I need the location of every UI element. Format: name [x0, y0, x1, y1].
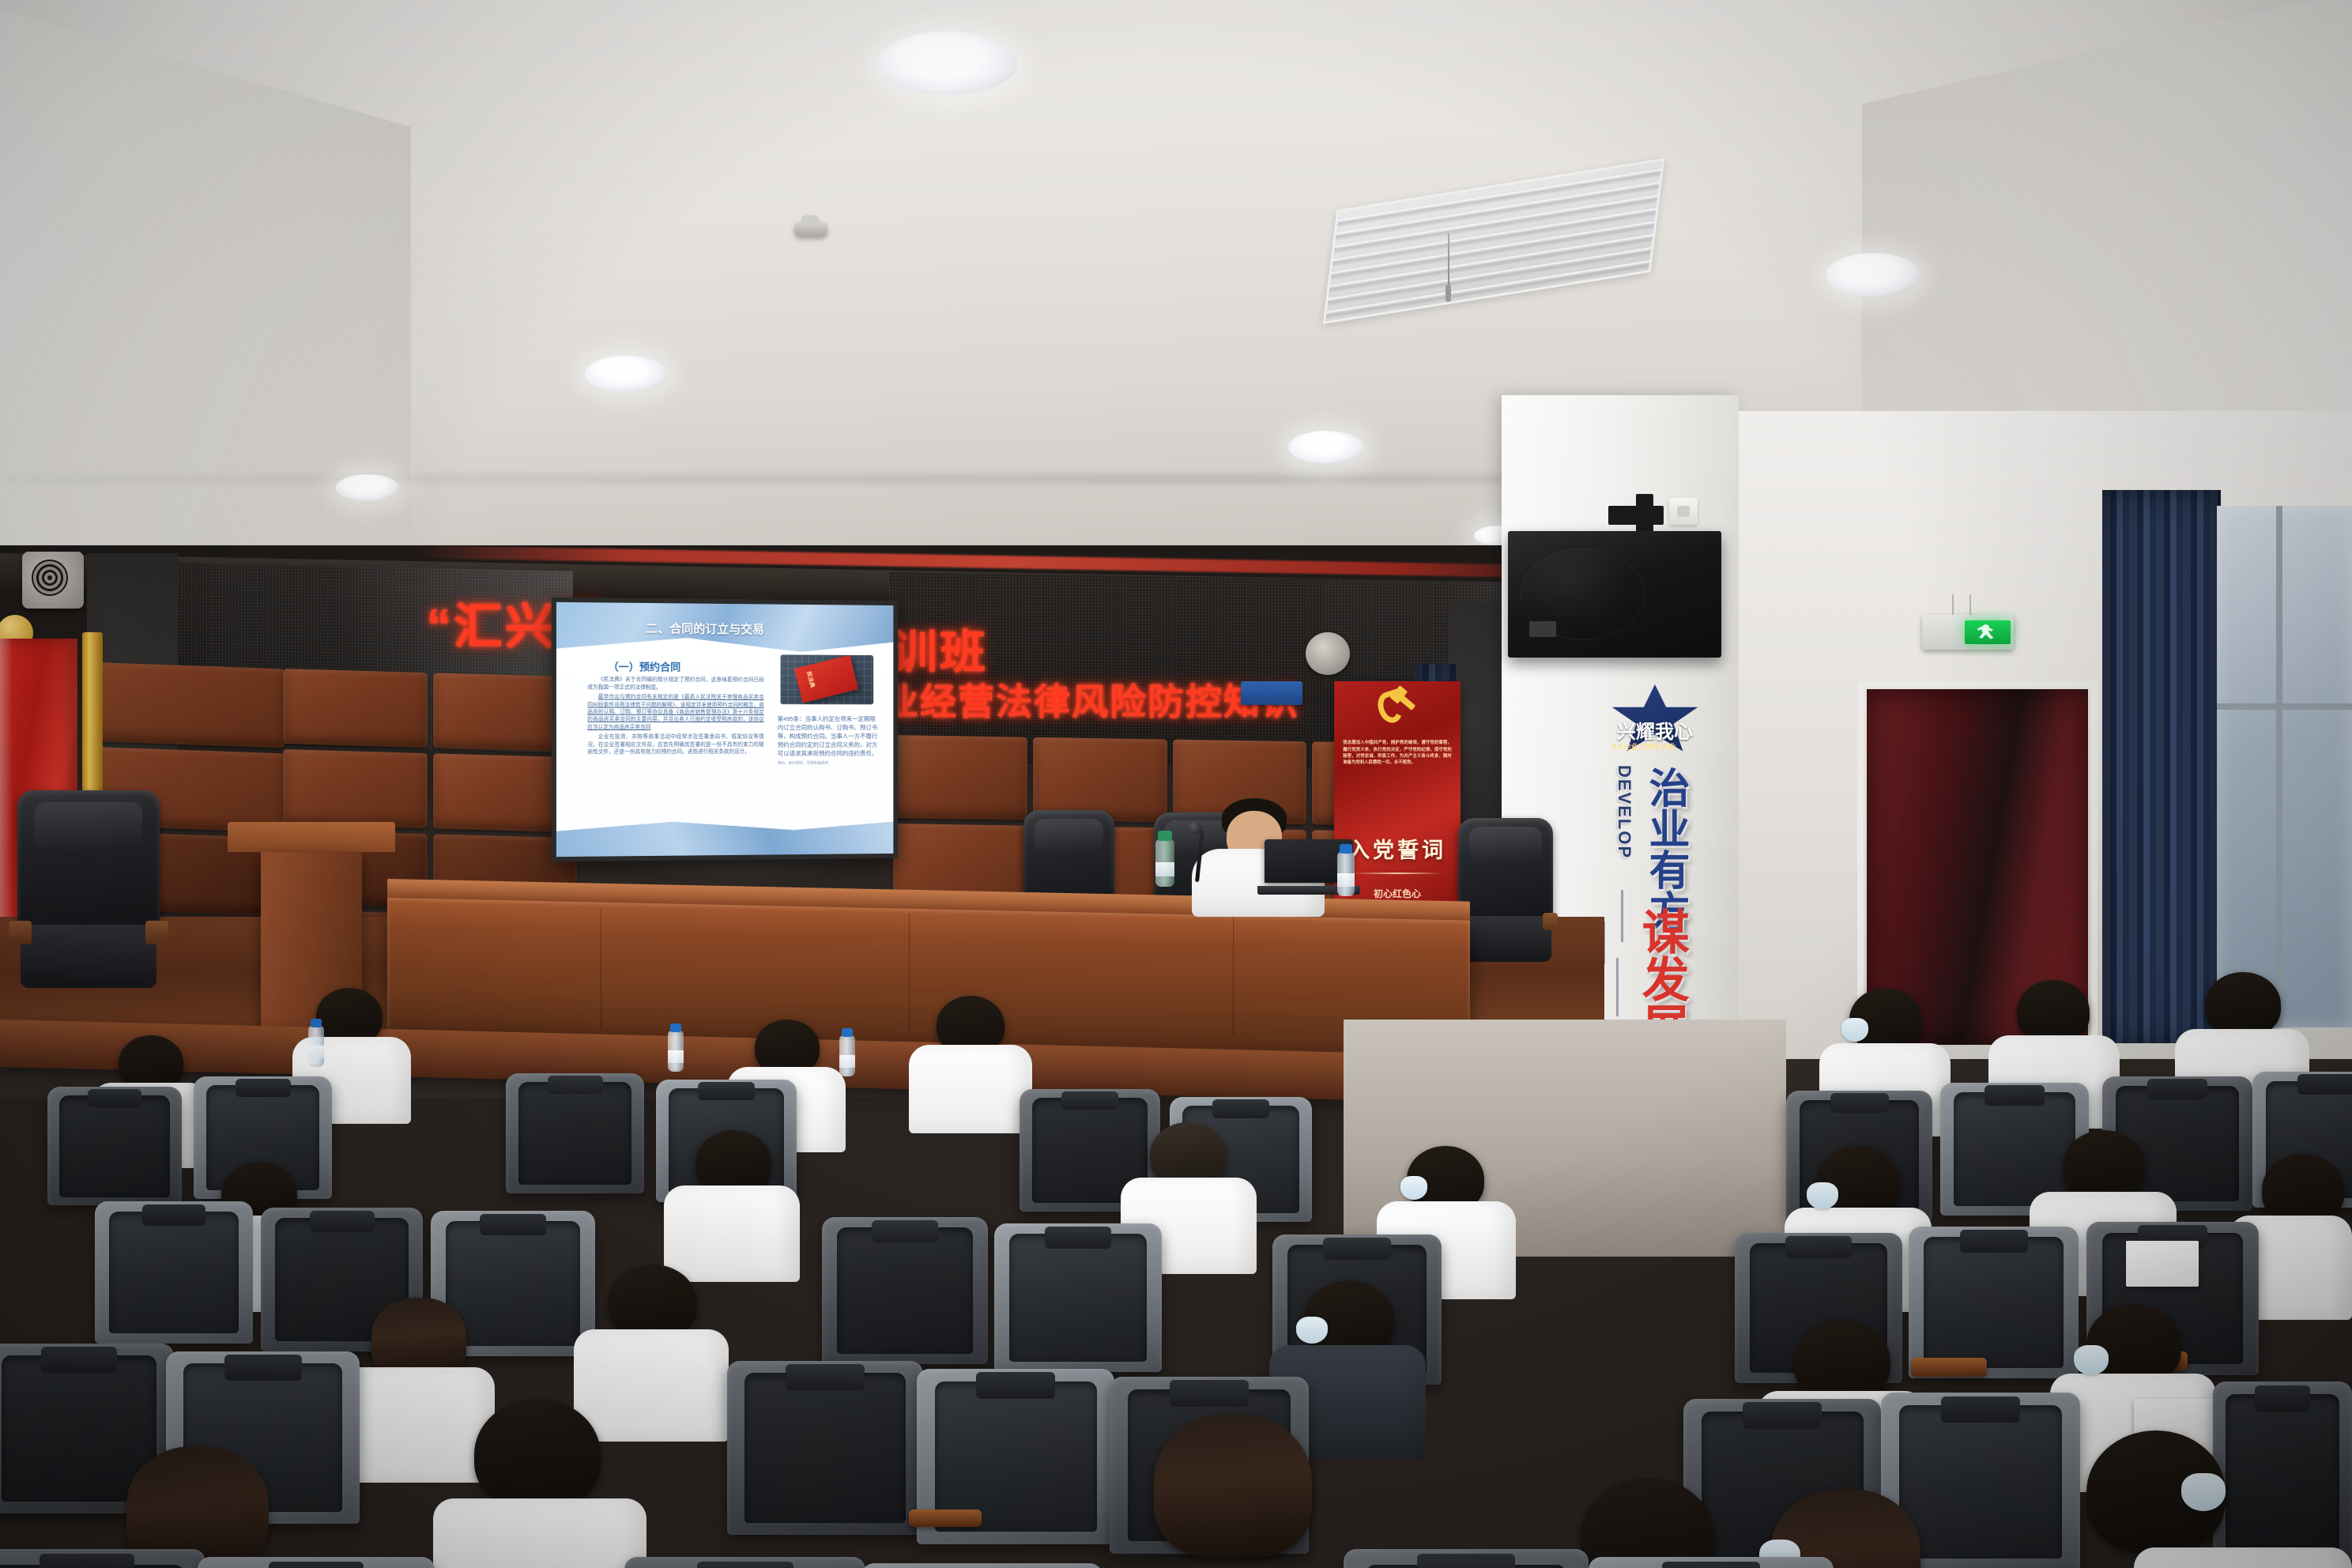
- water-bottle: [1337, 852, 1355, 896]
- auditorium-seat[interactable]: [1589, 1557, 1834, 1568]
- auditorium-seat[interactable]: [1909, 1227, 2079, 1378]
- face-mask: [1807, 1182, 1838, 1209]
- window-curtain: [2102, 490, 2221, 1043]
- ceiling-downlight: [1826, 253, 1920, 297]
- seat-armrest: [1911, 1358, 1987, 1377]
- pillar-zigzag-divider: [1621, 890, 1623, 942]
- slide-keywords: 预约、本约预约、可得利益损失: [778, 761, 829, 765]
- jbl-speaker: [1508, 531, 1721, 658]
- water-bottle: [668, 1031, 684, 1072]
- power-outlet: [1669, 498, 1698, 525]
- attendee-head: [2063, 1130, 2145, 1201]
- auditorium-seat[interactable]: [0, 1549, 205, 1568]
- wall-room-sign: [1241, 681, 1302, 705]
- exit-running-man-icon: [1965, 620, 2011, 644]
- wall-alarm-speaker-icon: [22, 552, 84, 609]
- party-oath-text: 我志愿加入中国共产党，拥护党的纲领，遵守党的章程，履行党员义务，执行党的决定，严…: [1343, 740, 1452, 765]
- slide-paragraph-2: 最早作出与预约合同有关规定的是《最高人民法院关于审理商品买卖合同纠纷案件适用法律…: [587, 694, 763, 731]
- auditorium-seat[interactable]: [506, 1073, 644, 1193]
- attendee-shirt: [2134, 1547, 2352, 1568]
- auditorium-seat[interactable]: [861, 1563, 1102, 1568]
- attendee-head: [1794, 1320, 1890, 1402]
- ceiling-downlight: [336, 474, 399, 501]
- window-mullion: [2276, 506, 2282, 1027]
- water-bottle: [308, 1026, 324, 1067]
- mic-capsule: [1189, 822, 1201, 835]
- slide-heading: （一）预约合同: [608, 658, 680, 674]
- pillar-logo-subtext: 5.0 企业工作法 兴业: [1612, 741, 1676, 752]
- attendee-head: [2017, 980, 2090, 1043]
- conference-hall-photo: “汇兴讲 训班 业经营法律风险防控知识 二、合同的订立与交易 （一）预约合同: [0, 0, 2352, 1568]
- auditorium-seat[interactable]: [624, 1557, 865, 1568]
- auditorium-seat[interactable]: [822, 1217, 988, 1364]
- seat-armrest: [909, 1510, 982, 1527]
- smoke-detector: [794, 221, 827, 237]
- podium-top: [228, 822, 395, 852]
- slide-civil-code-image: 民法典: [781, 654, 873, 705]
- slide-paragraph-3: 企业在投资、并购等商事活动中经常涉及签署意向书、框架协议等情况，在企业签署相应文…: [587, 733, 763, 756]
- auditorium-seat[interactable]: [2213, 1381, 2352, 1563]
- auditorium-seat[interactable]: [198, 1557, 435, 1568]
- civil-code-book-label: 民法典: [805, 671, 817, 689]
- slide-paragraph-1: 《民法典》关于合同编的部分规定了预约合同，这意味着预约合同已经成为我国一项正式的…: [587, 676, 763, 692]
- window: [2217, 506, 2352, 1027]
- exit-sign: [1922, 615, 2014, 650]
- ceiling-downlight: [585, 356, 667, 392]
- ceiling-downlight: [877, 32, 1018, 95]
- face-mask: [1400, 1176, 1427, 1200]
- slide-footer-band: [556, 819, 893, 857]
- auditorium-seat[interactable]: [727, 1361, 923, 1535]
- exit-sign-hanger: [1969, 594, 1971, 616]
- audience-seating: [0, 1004, 2352, 1568]
- attendee-shirt: [433, 1498, 646, 1568]
- auditorium-seat[interactable]: [47, 1087, 182, 1205]
- notebook: [2126, 1241, 2199, 1287]
- vent-pull-weight: [1445, 285, 1451, 302]
- water-bottle: [839, 1035, 855, 1076]
- attendee-head: [2262, 1154, 2344, 1225]
- attendee-shirt: [909, 1045, 1032, 1133]
- auditorium-seat[interactable]: [95, 1201, 253, 1344]
- auditorium-seat[interactable]: [994, 1223, 1162, 1372]
- slide-article-495: 第495条：当事人约定在将来一定期限内订立合同的认购书、订购书、预订书等，构成预…: [778, 715, 878, 757]
- led-banner-line2: 业经营法律风险防控知识: [882, 673, 1299, 726]
- projection-screen: 二、合同的订立与交易 （一）预约合同 《民法典》关于合同编的部分规定了预约合同，…: [552, 597, 898, 862]
- speaker-mount-arm: [1636, 494, 1653, 532]
- attendee-head: [1154, 1415, 1312, 1557]
- attendee-shirt: [664, 1185, 800, 1282]
- attendee-head: [2205, 972, 2281, 1037]
- hammer-sickle-icon: [1374, 688, 1421, 728]
- vent-pull-string: [1448, 233, 1449, 288]
- presentation-slide: 二、合同的订立与交易 （一）预约合同 《民法典》关于合同编的部分规定了预约合同，…: [556, 602, 893, 857]
- face-mask: [2074, 1345, 2109, 1375]
- attendee-shirt: [574, 1329, 729, 1442]
- executive-chair: [1458, 818, 1553, 962]
- face-mask: [1841, 1018, 1868, 1042]
- auditorium-seat[interactable]: [1344, 1549, 1589, 1568]
- exit-sign-hanger: [1952, 594, 1954, 616]
- slide-title: 二、合同的订立与交易: [646, 620, 764, 637]
- ceiling-downlight: [1288, 431, 1364, 464]
- pillar-logo-text: 兴耀我心: [1617, 716, 1693, 744]
- window-mullion: [2217, 703, 2352, 710]
- attendee-shirt: [337, 1367, 495, 1483]
- party-banner-divider: [1351, 873, 1442, 874]
- pillar-english-word: DEVELOP: [1614, 765, 1634, 884]
- slide-right-quote: 第495条：当事人约定在将来一定期限内订立合同的认购书、订购书、预订书等，构成预…: [778, 714, 880, 767]
- attendee-head: [474, 1399, 601, 1510]
- executive-chair: [17, 790, 160, 988]
- water-bottle: [1155, 839, 1174, 887]
- led-banner-line1-right: 训班: [891, 615, 988, 681]
- face-mask: [1296, 1317, 1328, 1344]
- slide-body-text: 《民法典》关于合同编的部分规定了预约合同，这意味着预约合同已经成为我国一项正式的…: [587, 676, 763, 759]
- face-mask: [2181, 1473, 2226, 1511]
- wall-clock-icon: [1306, 632, 1350, 675]
